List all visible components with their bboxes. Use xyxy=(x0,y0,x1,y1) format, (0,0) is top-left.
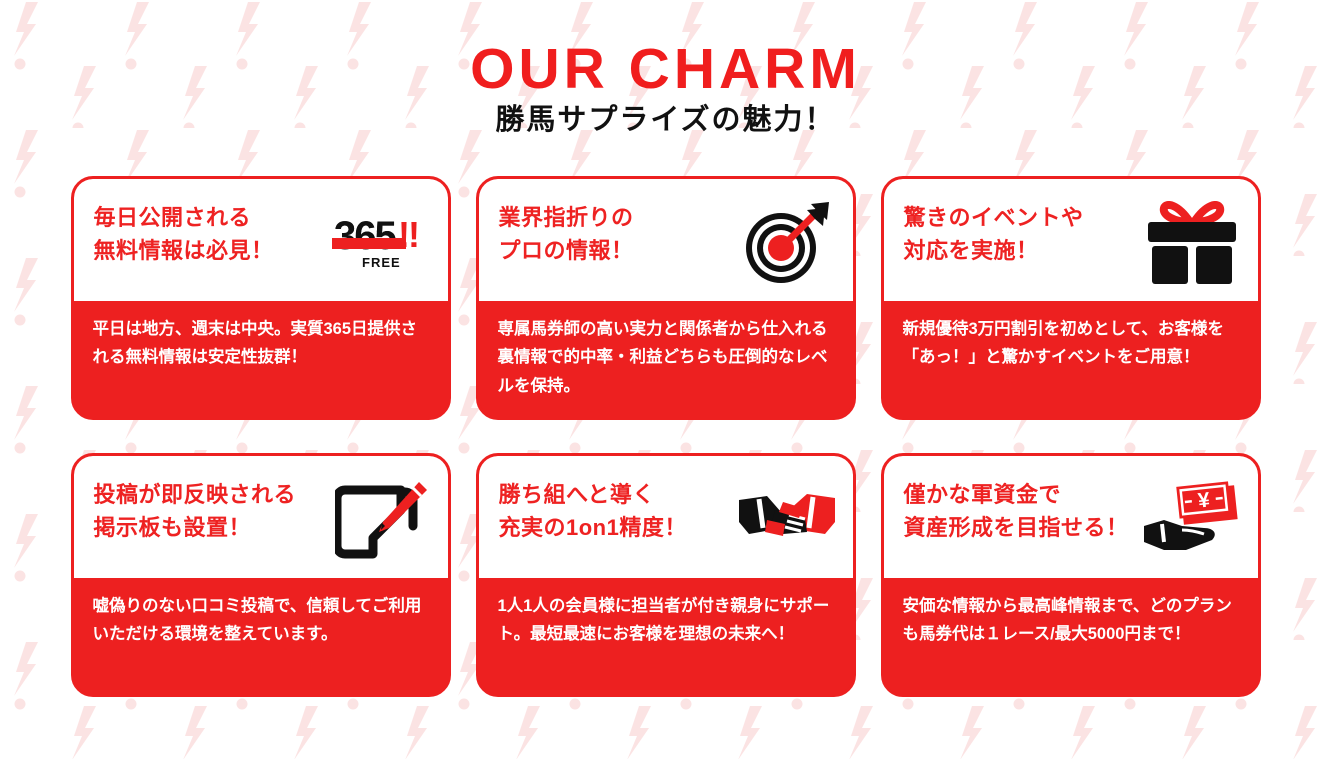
card-title: 毎日公開される 無料情報は必見！ xyxy=(94,199,330,268)
handshake-icon xyxy=(735,476,839,564)
charm-card[interactable]: 勝ち組へと導く 充実の1on1精度！ xyxy=(476,453,856,697)
charm-card[interactable]: 投稿が即反映される 掲示板も設置！ 嘘偽りのない口コミ投稿で、信頼してご利用いた… xyxy=(71,453,451,697)
card-body: 安価な情報から最高峰情報まで、どのプランも馬券代は１レース/最大5000円まで！ xyxy=(884,578,1258,694)
target-arrow-icon xyxy=(735,199,839,287)
charm-card-grid: 毎日公開される 無料情報は必見！ 365 365 !! FREE 平日は地方、週… xyxy=(61,176,1271,697)
page-root: OUR CHARM 勝馬サプライズの魅力！ 毎日公開される 無料情報は必見！ 3… xyxy=(0,0,1331,759)
charm-card[interactable]: 業界指折りの プロの情報！ xyxy=(476,176,856,420)
card-header: 驚きのイベントや 対応を実施！ xyxy=(884,179,1258,301)
card-body: 嘘偽りのない口コミ投稿で、信頼してご利用いただける環境を整えています。 xyxy=(74,578,448,694)
section-header: OUR CHARM 勝馬サプライズの魅力！ xyxy=(0,0,1331,138)
svg-text:FREE: FREE xyxy=(362,255,401,270)
card-title: 業界指折りの プロの情報！ xyxy=(499,199,735,268)
gift-box-icon xyxy=(1140,199,1244,287)
charm-card[interactable]: 僅かな軍資金で 資産形成を目指せる！ ¥ xyxy=(881,453,1261,697)
card-header: 勝ち組へと導く 充実の1on1精度！ xyxy=(479,456,853,578)
charm-card[interactable]: 毎日公開される 無料情報は必見！ 365 365 !! FREE 平日は地方、週… xyxy=(71,176,451,420)
svg-text:!!: !! xyxy=(398,214,418,255)
page-subtitle-jp: 勝馬サプライズの魅力！ xyxy=(0,103,1331,138)
card-body: 新規優待3万円割引を初めとして、お客様を「あっ！」と驚かすイベントをご用意！ xyxy=(884,301,1258,417)
card-body: 平日は地方、週末は中央。実質365日提供される無料情報は安定性抜群！ xyxy=(74,301,448,417)
card-title: 驚きのイベントや 対応を実施！ xyxy=(904,199,1140,268)
hand-money-yen-icon: ¥ xyxy=(1140,476,1244,564)
365-free-logo-icon: 365 365 !! FREE xyxy=(330,199,434,287)
card-body: 1人1人の会員様に担当者が付き親身にサポート。最短最速にお客様を理想の未来へ！ xyxy=(479,578,853,694)
card-body: 専属馬券師の高い実力と関係者から仕入れる裏情報で的中率・利益どちらも圧倒的なレベ… xyxy=(479,301,853,417)
card-title: 僅かな軍資金で 資産形成を目指せる！ xyxy=(904,476,1140,545)
card-header: 投稿が即反映される 掲示板も設置！ xyxy=(74,456,448,578)
card-title: 投稿が即反映される 掲示板も設置！ xyxy=(94,476,330,545)
card-header: 業界指折りの プロの情報！ xyxy=(479,179,853,301)
card-header: 僅かな軍資金で 資産形成を目指せる！ ¥ xyxy=(884,456,1258,578)
page-title-en: OUR CHARM xyxy=(0,40,1331,98)
charm-card[interactable]: 驚きのイベントや 対応を実施！ 新規優待3万円割引を初めとして、お客様を「あっ！… xyxy=(881,176,1261,420)
note-pencil-icon xyxy=(330,476,434,564)
card-title: 勝ち組へと導く 充実の1on1精度！ xyxy=(499,476,735,545)
card-header: 毎日公開される 無料情報は必見！ 365 365 !! FREE xyxy=(74,179,448,301)
